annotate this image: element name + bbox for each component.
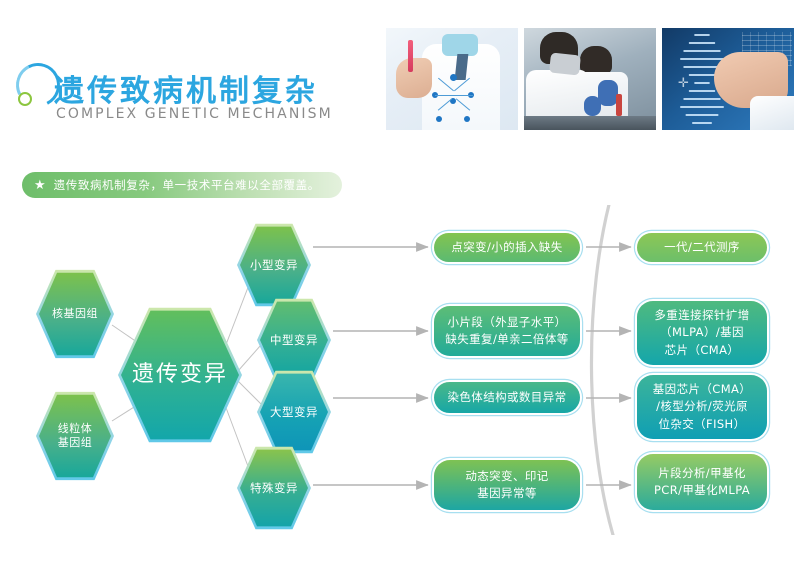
hex-node-special-variant[interactable]: 特殊变异 — [237, 445, 311, 531]
pill-text: 多重连接探针扩增（MLPA）/基因芯片（CMA） — [654, 307, 749, 359]
hex-label: 核基因组 — [52, 307, 98, 321]
header-photo-lab-technician — [386, 28, 518, 130]
page-title: 遗传致病机制复杂 — [54, 66, 318, 110]
technology-pill-sequencing[interactable]: 一代/二代测序 — [637, 233, 767, 262]
pill-text: 染色体结构或数目异常 — [448, 389, 567, 406]
page-header: 遗传致病机制复杂 COMPLEX GENETIC MECHANISM — [0, 0, 800, 150]
page-subtitle: COMPLEX GENETIC MECHANISM — [56, 106, 333, 122]
hex-label: 遗传变异 — [132, 361, 228, 389]
logo-dot-icon — [18, 92, 32, 106]
hex-node-small-variant[interactable]: 小型变异 — [237, 222, 311, 308]
technology-pill-cma-karyotype-fish[interactable]: 基因芯片（CMA）/核型分析/荧光原位杂交（FISH） — [637, 375, 767, 439]
description-pill-small-fragment[interactable]: 小片段（外显子水平）缺失重复/单亲二倍体等 — [434, 306, 580, 356]
pill-text: 基因芯片（CMA）/核型分析/荧光原位杂交（FISH） — [653, 381, 751, 433]
hex-node-mitochondrial-genome[interactable]: 线粒体 基因组 — [36, 390, 114, 482]
hex-node-nuclear-genome[interactable]: 核基因组 — [36, 268, 114, 360]
molecule-graphic-icon — [430, 74, 476, 126]
hex-node-large-variant[interactable]: 大型变异 — [257, 369, 331, 455]
header-photo-researchers — [524, 28, 656, 130]
pill-text: 点突变/小的插入缺失 — [451, 239, 562, 256]
hex-label: 大型变异 — [270, 405, 318, 419]
hex-node-genetic-variation[interactable]: 遗传变异 — [118, 305, 242, 445]
hex-label: 特殊变异 — [250, 481, 298, 495]
description-pill-point-mutation[interactable]: 点突变/小的插入缺失 — [434, 233, 580, 262]
genetic-mechanism-diagram: 核基因组 线粒体 基因组 遗传变异 小型变异 中型变异 大型变异 特殊变异 点突… — [0, 205, 800, 535]
banner-text: 遗传致病机制复杂，单一技术平台难以全部覆盖。 — [54, 177, 320, 193]
header-photo-dna-helix: ✛ — [662, 28, 794, 130]
technology-pill-mlpa-cma[interactable]: 多重连接探针扩增（MLPA）/基因芯片（CMA） — [637, 301, 767, 365]
pill-text: 片段分析/甲基化PCR/甲基化MLPA — [654, 465, 750, 500]
pill-text: 一代/二代测序 — [664, 239, 740, 256]
hex-label: 中型变异 — [270, 333, 318, 347]
pill-text: 动态突变、印记基因异常等 — [465, 468, 548, 503]
description-pill-dynamic-mutation[interactable]: 动态突变、印记基因异常等 — [434, 460, 580, 510]
pill-text: 小片段（外显子水平）缺失重复/单亲二倍体等 — [445, 314, 568, 349]
hex-label: 线粒体 基因组 — [58, 422, 93, 450]
hex-label: 小型变异 — [250, 258, 298, 272]
description-pill-chromosome-abnormality[interactable]: 染色体结构或数目异常 — [434, 382, 580, 413]
highlight-banner: ★ 遗传致病机制复杂，单一技术平台难以全部覆盖。 — [22, 172, 342, 198]
star-icon: ★ — [34, 179, 46, 192]
technology-pill-methylation[interactable]: 片段分析/甲基化PCR/甲基化MLPA — [637, 454, 767, 510]
